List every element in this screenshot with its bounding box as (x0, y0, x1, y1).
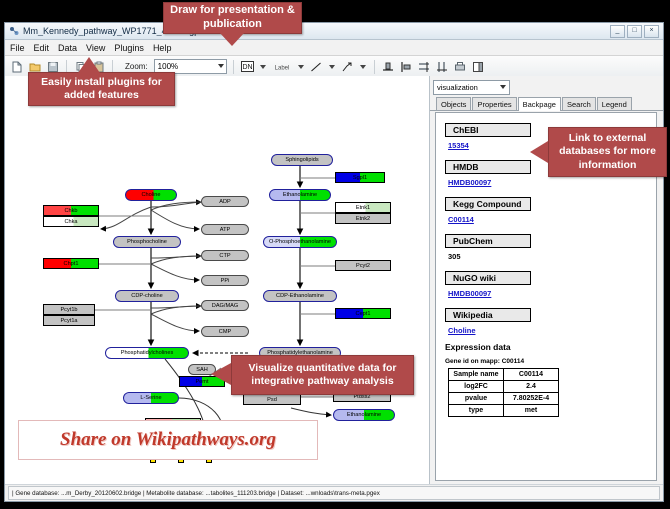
db-header-chebi: ChEBI (445, 123, 531, 137)
minimize-button[interactable]: _ (610, 25, 625, 38)
node-label: L-Serine (140, 395, 161, 401)
db-header-pubchem: PubChem (445, 234, 531, 248)
interaction-dropdown-icon[interactable] (360, 65, 366, 69)
side-panel-tabs: Objects Properties Backpage Search Legen… (430, 96, 663, 111)
node-ethanolamine-bottom[interactable]: Ethanolamine (333, 409, 395, 421)
node-adp[interactable]: ADP (201, 196, 249, 207)
menu-item-edit[interactable]: Edit (34, 43, 50, 53)
node-gene-cept1[interactable]: Cept1 (335, 308, 391, 319)
node-gene-chpt1[interactable]: Chpt1 (43, 258, 99, 269)
line-dropdown-icon[interactable] (329, 65, 335, 69)
node-label: Etnk1 (356, 205, 370, 211)
callout-text: Easily install plugins for added feature… (29, 76, 174, 102)
node-ethanolamine-top[interactable]: Ethanolamine (269, 189, 331, 201)
table-cell-value: 7.80252E-4 (504, 393, 559, 405)
node-sphingolipids[interactable]: Sphingolipids (271, 154, 333, 166)
svg-text:DN: DN (242, 64, 252, 71)
node-l-serine-left[interactable]: L-Serine (123, 392, 179, 404)
expression-data-title: Expression data (445, 342, 647, 352)
node-label: ATP (220, 227, 230, 233)
table-cell-key: pvalue (449, 393, 504, 405)
callout-draw-for-publication: Draw for presentation & publication (163, 2, 302, 34)
node-gene-pcyt2[interactable]: Pcyt2 (335, 260, 391, 271)
distribute-vertical-icon[interactable] (417, 59, 432, 74)
callout-visualize-quantitative-data: Visualize quantitative data for integrat… (231, 355, 414, 395)
node-label: Phosphocholine (127, 239, 167, 245)
callout-plugins-arrow (78, 57, 100, 73)
status-bar-text: | Gene database: ...m_Derby_20120602.bri… (8, 486, 660, 500)
db-header-kegg-compound: Kegg Compound (445, 197, 531, 211)
node-label: PPi (221, 278, 230, 284)
visualization-combobox[interactable]: visualization (433, 80, 510, 95)
node-ctp[interactable]: CTP (201, 250, 249, 261)
toolbar-separator-4 (374, 60, 375, 74)
node-cmp[interactable]: CMP (201, 326, 249, 337)
share-text: Share on Wikipathways.org (60, 429, 276, 451)
callout-draw-arrow (219, 32, 245, 46)
node-phosphatidylcholines[interactable]: Phosphatidylcholines (105, 347, 189, 359)
node-label: Ethanolamine (347, 412, 381, 418)
db-header-hmdb: HMDB (445, 160, 531, 174)
node-gene-sgpl1[interactable]: Sgpl1 (335, 172, 385, 183)
app-icon (9, 26, 19, 36)
callout-install-plugins: Easily install plugins for added feature… (28, 72, 175, 106)
node-gene-chkb[interactable]: Chkb (43, 205, 99, 216)
chevron-down-icon (218, 64, 224, 68)
node-cdp-ethanolamine[interactable]: CDP-Ethanolamine (263, 290, 337, 302)
gene-id-line: Gene id on mapp: C00114 (445, 358, 647, 365)
close-button[interactable]: × (644, 25, 659, 38)
menu-item-help[interactable]: Help (153, 43, 172, 53)
interaction-tool-icon[interactable] (340, 59, 355, 74)
node-label: Sphingolipids (285, 157, 318, 163)
node-label: Cept1 (356, 311, 371, 317)
maximize-button[interactable]: □ (627, 25, 642, 38)
visualization-row: visualization (430, 76, 663, 96)
node-label: Choline (142, 192, 161, 198)
node-label: ADP (219, 199, 231, 205)
db-link-nugo-wiki[interactable]: HMDB00097 (448, 289, 647, 298)
node-gene-etnk1[interactable]: Etnk1 (335, 202, 391, 213)
node-dag-mag[interactable]: DAG/MAG (201, 300, 249, 311)
menu-item-file[interactable]: File (10, 43, 25, 53)
db-header-nugo-wiki: NuGO wiki (445, 271, 531, 285)
callout-external-db-links: Link to external databases for more info… (548, 127, 667, 177)
table-row: log2FC 2.4 (449, 381, 559, 393)
svg-text:Label: Label (274, 65, 289, 71)
node-label: CDP-Ethanolamine (276, 293, 324, 299)
node-label: Chka (64, 219, 77, 225)
node-phosphocholine[interactable]: Phosphocholine (113, 236, 181, 248)
menu-item-data[interactable]: Data (58, 43, 77, 53)
callout-links-arrow (530, 141, 548, 163)
node-cdp-choline[interactable]: CDP-choline (115, 290, 179, 302)
toolbar-separator-3 (233, 60, 234, 74)
table-cell-key: type (449, 405, 504, 417)
sidebar-toggle-icon[interactable] (471, 59, 486, 74)
node-label: Chkb (64, 208, 77, 214)
node-label: DAG/MAG (212, 303, 238, 309)
window-controls: _ □ × (610, 25, 659, 38)
zoom-label: Zoom: (125, 62, 148, 71)
node-atp[interactable]: ATP (201, 224, 249, 235)
node-label: CMP (219, 329, 231, 335)
table-cell-value: C00114 (504, 369, 559, 381)
node-label: Pcyt1a (60, 318, 77, 324)
label-tool-icon[interactable]: Label (271, 59, 293, 74)
node-choline-top[interactable]: Choline (125, 189, 177, 201)
node-label: Psd (267, 397, 277, 403)
db-link-kegg-compound[interactable]: C00114 (448, 215, 647, 224)
table-cell-value: met (504, 405, 559, 417)
node-gene-chka[interactable]: Chka (43, 216, 99, 227)
chevron-down-icon (500, 85, 506, 89)
callout-text: Draw for presentation & publication (164, 4, 301, 32)
visualization-value: visualization (437, 83, 478, 92)
node-label: Chpt1 (64, 261, 79, 267)
node-label: Pemt (195, 379, 208, 385)
table-cell-key: log2FC (449, 381, 504, 393)
table-row: type met (449, 405, 559, 417)
datanode-icon[interactable]: DN (240, 59, 255, 74)
title-bar: Mm_Kennedy_pathway_WP1771_45176.gp... _ … (5, 23, 663, 40)
node-o-phosphoethanolamine[interactable]: O-Phosphoethanolamine (263, 236, 337, 248)
new-file-icon[interactable] (9, 59, 24, 74)
db-header-wikipedia: Wikipedia (445, 308, 531, 322)
callout-text: Link to external databases for more info… (549, 132, 666, 171)
align-top-icon[interactable] (381, 59, 396, 74)
tab-legend[interactable]: Legend (597, 97, 632, 110)
node-label: Sgpl1 (353, 175, 367, 181)
node-label: Pcyt2 (356, 263, 370, 269)
align-left-icon[interactable] (399, 59, 414, 74)
node-label: CTP (219, 253, 230, 259)
table-cell-value: 2.4 (504, 381, 559, 393)
datanode-dropdown-icon[interactable] (260, 65, 266, 69)
line-tool-icon[interactable] (309, 59, 324, 74)
node-label: O-Phosphoethanolamine (269, 239, 331, 245)
node-label: CDP-choline (131, 293, 162, 299)
node-label: Ethanolamine (283, 192, 317, 198)
callout-text: Visualize quantitative data for integrat… (232, 362, 413, 388)
node-label: Etnk2 (356, 216, 370, 222)
node-ppi[interactable]: PPi (201, 275, 249, 286)
db-value-pubchem: 305 (448, 252, 647, 261)
table-row: pvalue 7.80252E-4 (449, 393, 559, 405)
status-bar: | Gene database: ...m_Derby_20120602.bri… (5, 484, 663, 501)
node-gene-pcyt1a[interactable]: Pcyt1a (43, 315, 95, 326)
node-gene-pcyt1b[interactable]: Pcyt1b (43, 304, 95, 315)
menu-bar: File Edit Data View Plugins Help (5, 40, 663, 56)
callout-share-on-wikipathways: Share on Wikipathways.org (18, 420, 318, 460)
print-icon[interactable] (453, 59, 468, 74)
node-label: Pcyt1b (60, 307, 77, 313)
tab-search[interactable]: Search (562, 97, 596, 110)
expression-table: Sample name C00114 log2FC 2.4 pvalue 7.8… (448, 368, 559, 417)
db-link-hmdb[interactable]: HMDB00097 (448, 178, 647, 187)
node-label: SAH (196, 367, 208, 373)
table-cell-key: Sample name (449, 369, 504, 381)
menu-item-view[interactable]: View (86, 43, 105, 53)
node-gene-psd[interactable]: Psd (243, 394, 301, 405)
tab-properties[interactable]: Properties (472, 97, 516, 110)
table-row: Sample name C00114 (449, 369, 559, 381)
menu-item-plugins[interactable]: Plugins (114, 43, 144, 53)
node-label: Phosphatidylcholines (121, 350, 174, 356)
node-gene-etnk2[interactable]: Etnk2 (335, 213, 391, 224)
distribute-horizontal-icon[interactable] (435, 59, 450, 74)
tab-backpage[interactable]: Backpage (518, 97, 561, 111)
zoom-value: 100% (158, 62, 178, 71)
callout-visualize-arrow (211, 363, 231, 385)
db-link-wikipedia[interactable]: Choline (448, 326, 647, 335)
label-dropdown-icon[interactable] (298, 65, 304, 69)
screenshot-root: Mm_Kennedy_pathway_WP1771_45176.gp... _ … (0, 0, 670, 509)
tab-objects[interactable]: Objects (436, 97, 471, 110)
